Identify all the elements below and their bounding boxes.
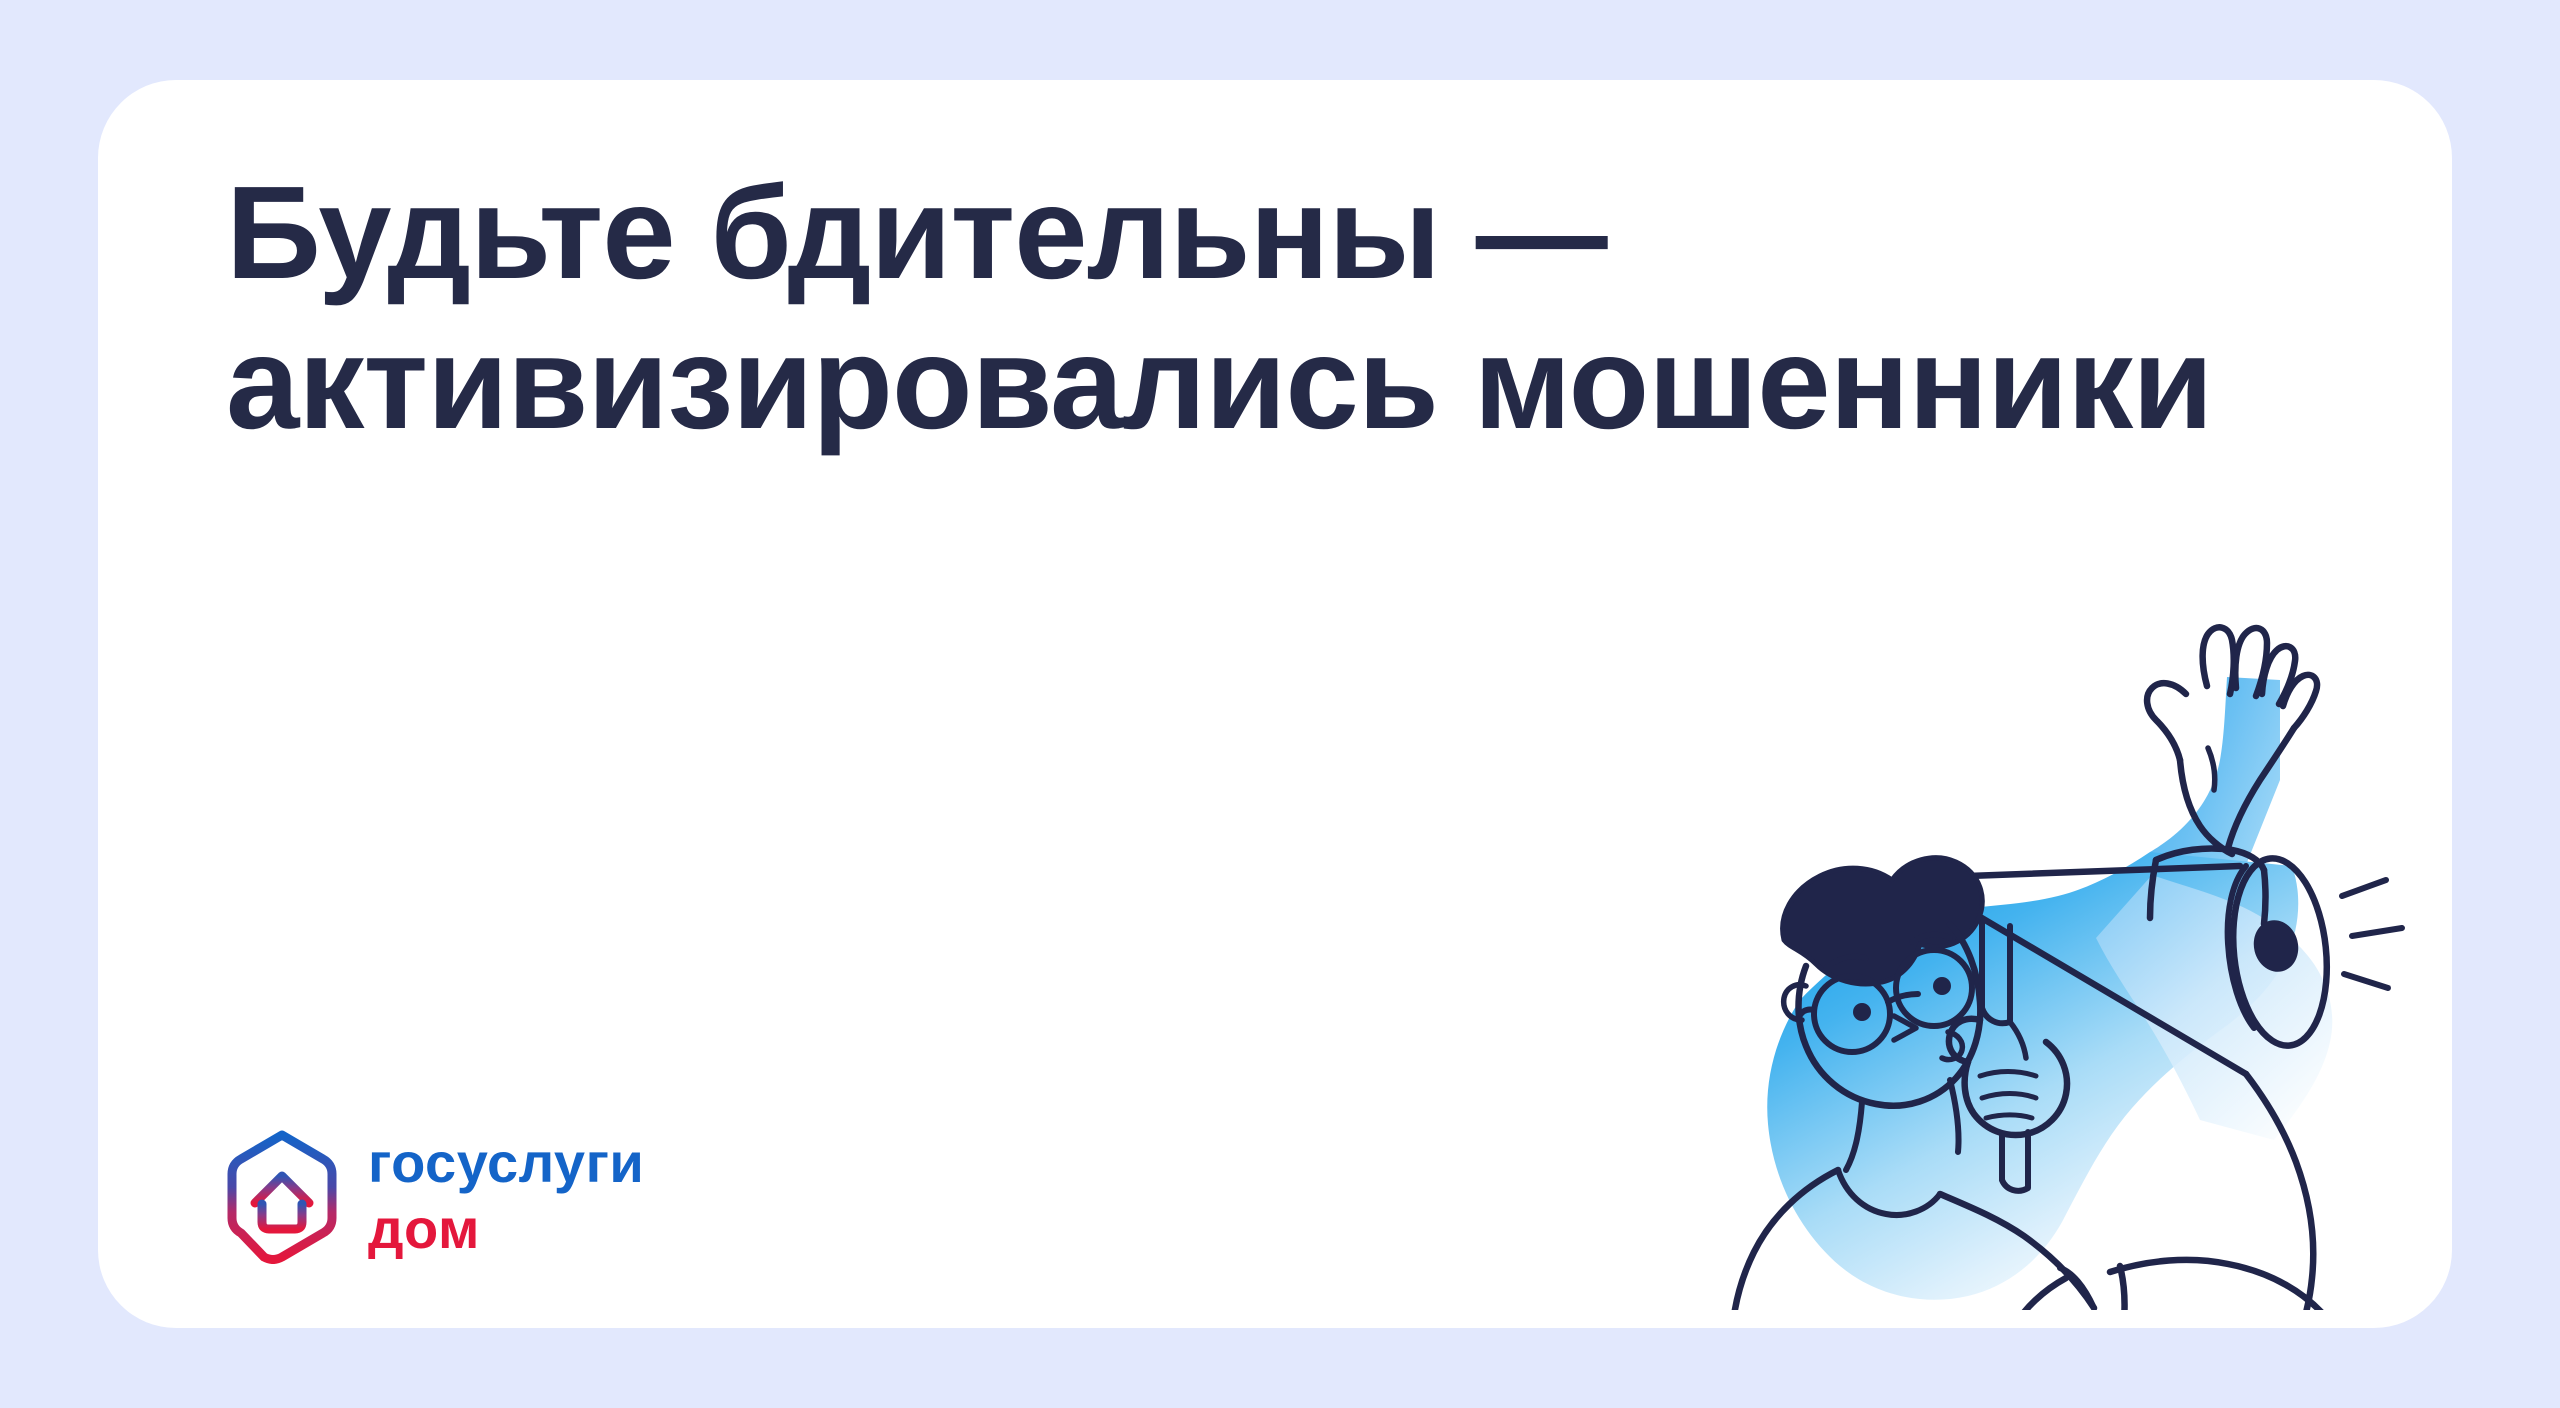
content-card: Будьте бдительны — активизировались моше… [98, 80, 2452, 1328]
page-title-line-2: активизировались мошенники [226, 308, 2026, 458]
page-title: Будьте бдительны — активизировались моше… [226, 158, 2026, 458]
gosuslugi-dom-house-hexagon-icon [222, 1128, 342, 1264]
banner-canvas: Будьте бдительны — активизировались моше… [0, 0, 2560, 1408]
sound-lines-icon [2342, 880, 2402, 988]
sleeve-cuff-right [2264, 870, 2266, 924]
house-body [262, 1204, 302, 1229]
hexagon-outline [232, 1135, 332, 1260]
right-pupil [1933, 977, 1951, 995]
brand-logo[interactable]: госуслуги дом [222, 1128, 644, 1264]
left-pupil [1853, 1003, 1871, 1021]
arm-fold-left [1994, 1278, 2066, 1310]
wordmark-dom: дом [368, 1201, 644, 1257]
page-title-line-1: Будьте бдительны — [226, 158, 2026, 308]
right-arm-upper [2110, 1260, 2330, 1310]
brand-wordmark: госуслуги дом [368, 1135, 644, 1257]
wordmark-gosuslugi: госуслуги [368, 1135, 644, 1191]
person-with-megaphone-illustration [1680, 480, 2452, 1310]
